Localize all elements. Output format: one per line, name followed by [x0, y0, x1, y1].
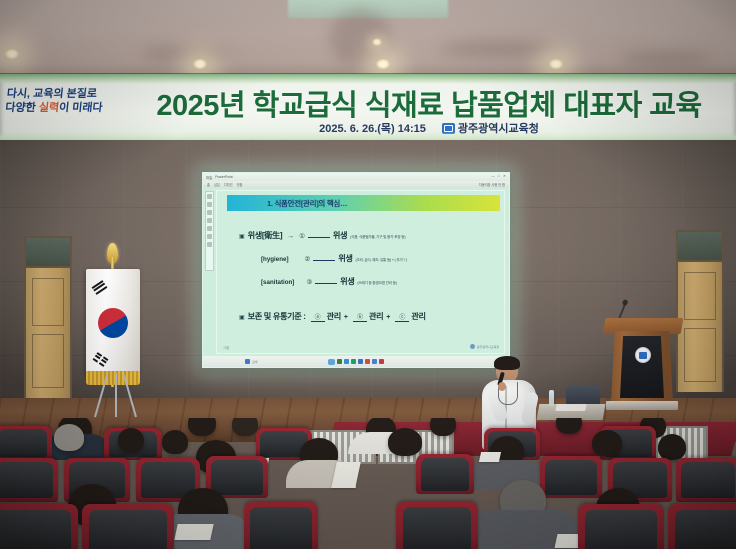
lecture-hall-photo: 다시, 교육의 본질로 다양한 실력이 미래다 2025년 학교급식 식재료 납…: [0, 0, 736, 549]
seat[interactable]: [0, 504, 78, 549]
ribbon-tab-transition[interactable]: 전환: [237, 182, 243, 187]
taskbar-icon-browser[interactable]: [372, 359, 377, 364]
ceiling-light: [548, 58, 564, 70]
education-office-logo: 광주광역시교육청: [442, 120, 539, 136]
education-office-name: 광주광역시교육청: [458, 120, 539, 136]
line3-keyword: 위생: [340, 275, 354, 287]
seat[interactable]: [0, 426, 52, 460]
line1-term: 위생[衛生]: [248, 229, 283, 241]
audience-head: [592, 430, 622, 456]
office-logo-icon: [470, 344, 475, 349]
audience-head: [556, 418, 582, 434]
line2-term: [hygiene]: [261, 256, 289, 263]
seat[interactable]: [416, 454, 474, 494]
handout-paper: [174, 524, 213, 540]
banner-subline: 2025. 6. 26.(목) 14:15 광주광역시교육청: [126, 120, 732, 136]
seat[interactable]: [82, 504, 174, 549]
seat[interactable]: [540, 456, 602, 498]
slide-footer-left: 그림: [223, 345, 229, 350]
ribbon-tab-design[interactable]: 디자인: [224, 182, 233, 187]
taegeukgi-flag: [86, 269, 140, 377]
bottom-word-b: 관리: [369, 310, 383, 322]
maximize-icon[interactable]: □: [498, 174, 500, 178]
speaker-bag: [566, 386, 600, 406]
powerpoint-ribbon: 홈 삽입 디자인 전환 자동저장 사용 안 함: [203, 181, 509, 188]
audience-head: [188, 418, 216, 436]
ceiling-light: [4, 48, 20, 60]
seat[interactable]: [668, 504, 736, 549]
slogan-line-2: 다양한 실력이 미래다: [5, 102, 126, 116]
audience-head: [388, 428, 422, 456]
podium-emblem-icon: [635, 347, 651, 363]
projection-screen: 파일 PowerPoint — □ ✕ 홈 삽입 디자인 전환 자동저장 사용 …: [202, 172, 510, 368]
trigram-geon: [92, 280, 108, 295]
trigram-gon: [93, 352, 109, 367]
line2-note: (조리, 급식, 제조, 유통 등) + ( 추가 ? ): [356, 258, 407, 263]
bottom-blank-a: ⓐ: [311, 312, 325, 322]
taskbar-icon-chat[interactable]: [358, 359, 363, 364]
seat[interactable]: [0, 458, 58, 502]
audience-head: [430, 418, 456, 436]
taskbar-icon-edge[interactable]: [328, 359, 335, 365]
line3-term: [sanitation]: [261, 279, 294, 286]
bottom-label: 보존 및 유통기준 :: [248, 310, 306, 322]
ribbon-autosave-label: 자동저장 사용 안 함: [479, 182, 505, 187]
bottom-plus-2: +: [386, 314, 390, 321]
taskbar-icon-pdf[interactable]: [379, 359, 384, 364]
line3-note: (쓰레기 등 환경오염 관리 등): [357, 281, 396, 286]
audience-area: [0, 418, 736, 549]
thumbnail-item[interactable]: [207, 218, 212, 223]
banner-slogan: 다시, 교육의 본질로 다양한 실력이 미래다: [5, 88, 128, 116]
window-controls[interactable]: — □ ✕: [491, 174, 506, 178]
thumbnail-item[interactable]: [207, 210, 212, 215]
line2-number: ②: [305, 255, 311, 263]
slide-line-3: [sanitation] ③ 위생 (쓰레기 등 환경오염 관리 등): [231, 275, 490, 287]
audience-head: [232, 418, 258, 436]
windows-start-icon[interactable]: [245, 359, 250, 364]
handout-paper: [331, 462, 361, 488]
korean-flag-stand: [78, 243, 148, 418]
taegeuk-symbol: [98, 308, 128, 338]
slide-footer-text: 광주광역시교육청: [477, 345, 499, 349]
podium-base: [606, 401, 678, 410]
presenter-hand: [498, 382, 506, 391]
bullet-icon: ▣: [239, 233, 245, 240]
line1-number: ①: [299, 232, 305, 240]
slide-footer-logo: 광주광역시교육청: [470, 344, 499, 349]
ceiling-light: [375, 58, 391, 70]
bottom-blank-b: ⓑ: [353, 312, 367, 322]
slide-body: ▣ 위생[衛生] → ① 위생 (식품, 식품첨가물, 기구 및 용기·포장 등…: [217, 215, 504, 353]
bottom-word-a: 관리: [327, 310, 341, 322]
table-papers: [555, 404, 586, 411]
line3-number: ③: [306, 278, 312, 286]
ceiling-light: [372, 38, 382, 46]
line1-keyword: 위생: [333, 229, 347, 241]
slide-canvas: 1. 식품안전[관리]의 핵심… ▣ 위생[衛生] → ① 위생 (식품, 식품…: [216, 190, 505, 354]
line2-blank: [313, 260, 335, 261]
line3-blank: [315, 283, 337, 284]
thumbnail-item[interactable]: [207, 202, 212, 207]
taskbar-icon-excel[interactable]: [351, 359, 356, 364]
slide-thumbnail-rail[interactable]: [205, 191, 214, 271]
close-icon[interactable]: ✕: [503, 174, 506, 178]
ceiling-light: [192, 58, 208, 70]
seat[interactable]: [396, 502, 478, 549]
line1-arrow-icon: →: [287, 233, 294, 240]
handout-paper: [479, 452, 501, 462]
audience-head: [658, 434, 686, 460]
audience-head: [54, 424, 84, 451]
left-door-transom: [24, 236, 72, 268]
right-door-transom: [676, 230, 724, 262]
taskbar-icon-word[interactable]: [344, 359, 349, 364]
presenter-hair: [494, 356, 520, 370]
taskbar-icon-powerpoint[interactable]: [365, 359, 370, 364]
taskbar-search[interactable]: 검색: [245, 359, 258, 364]
powerpoint-title-bar: 파일 PowerPoint — □ ✕: [203, 173, 509, 181]
ppt-app-label: PowerPoint: [215, 175, 232, 179]
line2-keyword: 위생: [338, 252, 352, 264]
slogan-line-1: 다시, 교육의 본질로: [6, 88, 127, 102]
left-door[interactable]: [24, 266, 72, 398]
thumbnail-item[interactable]: [207, 242, 212, 247]
water-bottle: [549, 390, 554, 406]
podium-front-panel: [620, 336, 664, 398]
slide-title: 1. 식품안전[관리]의 핵심…: [227, 195, 500, 211]
banner-title: 2025년 학교급식 식재료 납품업체 대표자 교육: [126, 82, 732, 124]
thumbnail-item[interactable]: [207, 194, 212, 199]
bottom-plus-1: +: [344, 314, 348, 321]
ppt-file-tab[interactable]: 파일: [206, 175, 212, 180]
slide-bottom-line: ▣ 보존 및 유통기준 : ⓐ 관리 + ⓑ 관리 + ⓒ 관리: [231, 310, 490, 322]
ceiling: [0, 0, 736, 78]
slide-line-1: ▣ 위생[衛生] → ① 위생 (식품, 식품첨가물, 기구 및 용기·포장 등…: [231, 229, 490, 241]
banner-date: 2025. 6. 26.(목) 14:15: [319, 120, 426, 136]
education-office-mark-icon: [442, 123, 455, 134]
thumbnail-item[interactable]: [207, 226, 212, 231]
podium: [604, 300, 682, 416]
bullet-icon: ▣: [239, 314, 245, 321]
seat[interactable]: [244, 502, 318, 549]
taskbar-icon-explorer[interactable]: [337, 359, 342, 364]
slogan-highlight: 실력: [38, 102, 60, 114]
flag-tripod: [88, 371, 142, 417]
taskbar-search-label[interactable]: 검색: [252, 360, 258, 364]
event-banner: 다시, 교육의 본질로 다양한 실력이 미래다 2025년 학교급식 식재료 납…: [0, 74, 736, 146]
audience-head: [118, 428, 144, 452]
right-door[interactable]: [676, 260, 724, 392]
ribbon-tab-home[interactable]: 홈: [207, 182, 210, 187]
line1-blank: [308, 237, 330, 238]
line1-note: (식품, 식품첨가물, 기구 및 용기·포장 등): [350, 235, 405, 240]
seat[interactable]: [676, 458, 736, 502]
minimize-icon[interactable]: —: [491, 174, 495, 178]
windows-taskbar[interactable]: 검색 14:15: [203, 356, 509, 367]
bottom-word-c: 관리: [411, 310, 425, 322]
ribbon-tab-insert[interactable]: 삽입: [214, 182, 220, 187]
bottom-blank-c: ⓒ: [395, 312, 409, 322]
slide-line-2: [hygiene] ② 위생 (조리, 급식, 제조, 유통 등) + ( 추가…: [231, 252, 490, 264]
thumbnail-item[interactable]: [207, 234, 212, 239]
seat[interactable]: [578, 504, 664, 549]
audience-head: [162, 430, 188, 454]
